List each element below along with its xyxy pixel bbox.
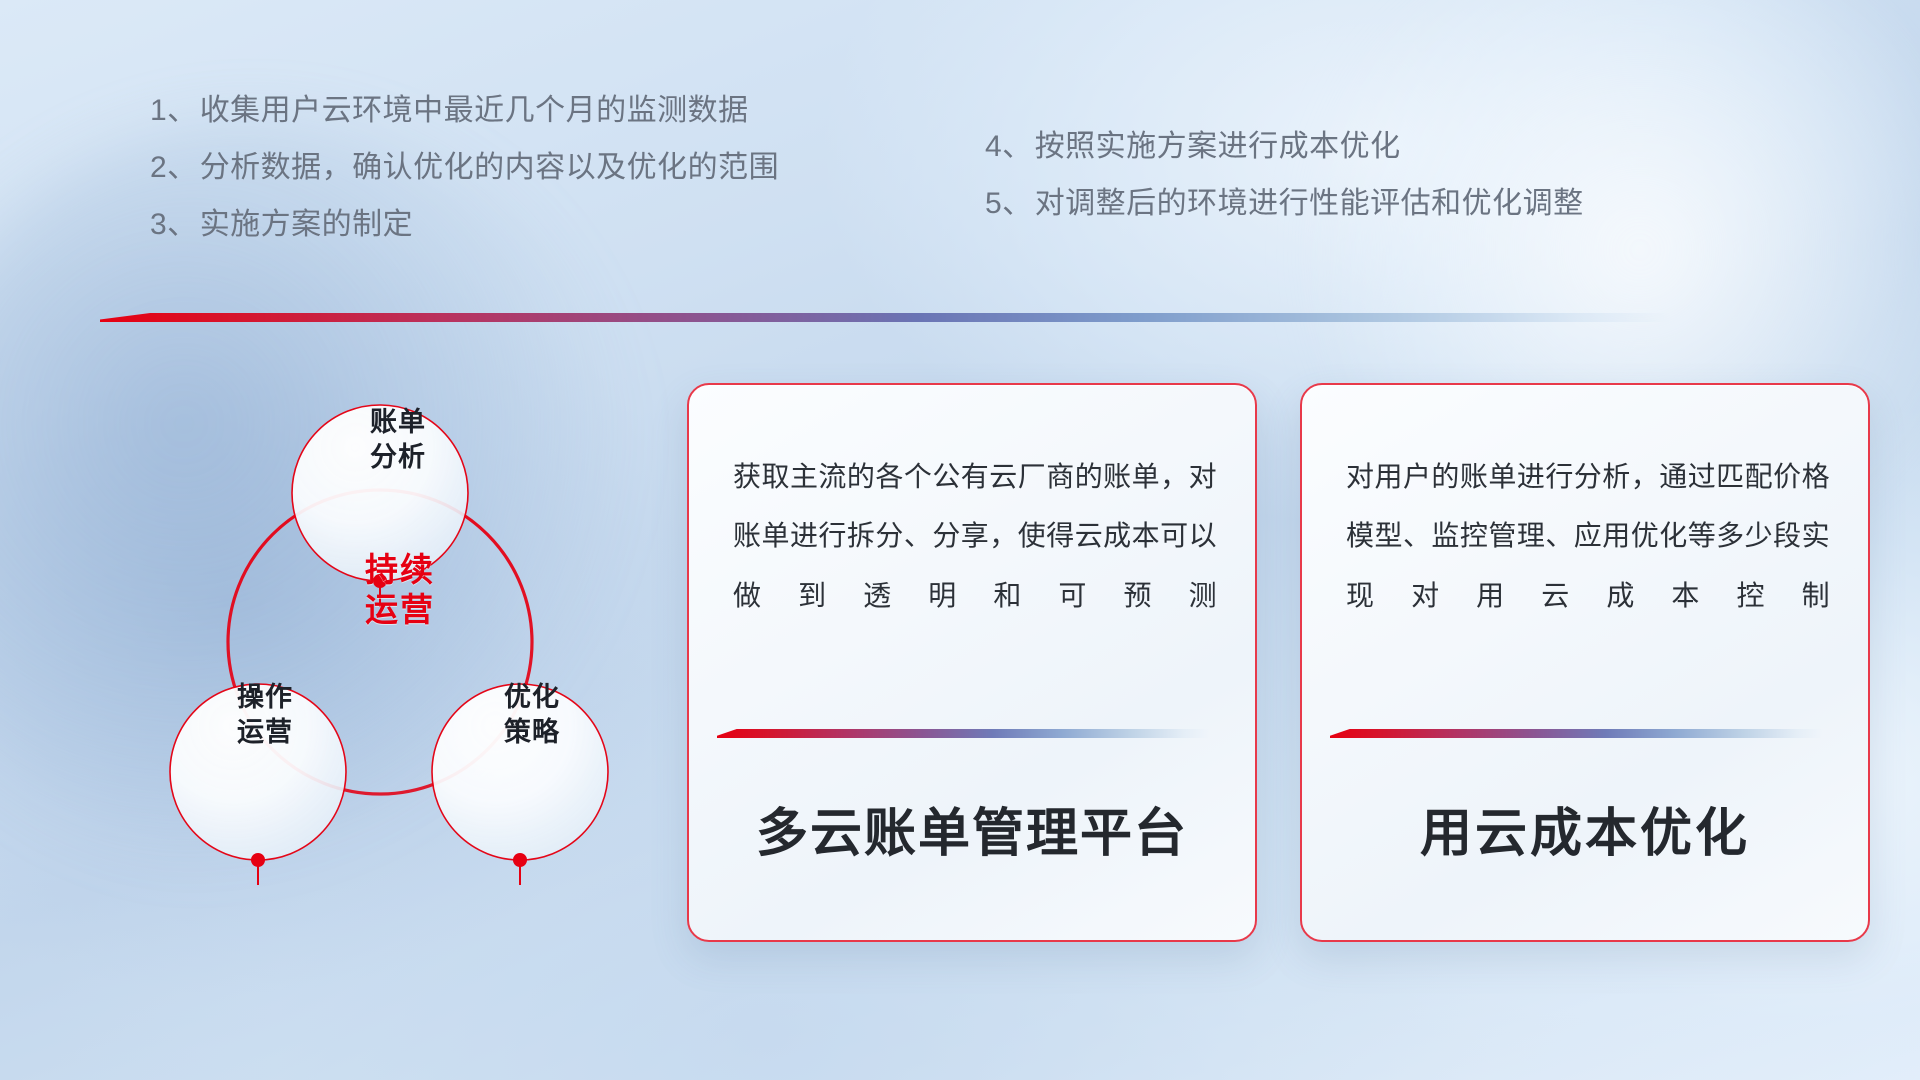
venn-dot-left — [251, 853, 265, 867]
card-accent-bar — [717, 729, 1209, 738]
list-item-index: 1、 — [150, 94, 198, 127]
process-steps-right-column: 4、按照实施方案进行成本优化 5、对调整后的环境进行性能评估和优化调整 — [985, 132, 1584, 246]
list-item: 3、实施方案的制定 — [150, 210, 779, 240]
card-body-text: 对用户的账单进行分析，通过匹配价格模型、监控管理、应用优化等多少段实现对用云成本… — [1346, 447, 1830, 625]
card-title: 多云账单管理平台 — [689, 791, 1255, 866]
list-item-index: 3、 — [150, 208, 198, 241]
list-item-index: 5、 — [985, 187, 1033, 220]
venn-bubble-left — [170, 684, 346, 860]
venn-bubble-right — [432, 684, 608, 860]
list-item-index: 2、 — [150, 151, 198, 184]
divider-bar — [100, 313, 1670, 322]
card-body: 获取主流的各个公有云厂商的账单，对账单进行拆分、分享，使得云成本可以做到透明和可… — [733, 447, 1217, 625]
process-steps: 1、收集用户云环境中最近几个月的监测数据 2、分析数据，确认优化的内容以及优化的… — [0, 96, 1920, 276]
slide-canvas: 1、收集用户云环境中最近几个月的监测数据 2、分析数据，确认优化的内容以及优化的… — [0, 0, 1920, 1080]
venn-svg — [100, 345, 660, 935]
process-steps-left-column: 1、收集用户云环境中最近几个月的监测数据 2、分析数据，确认优化的内容以及优化的… — [150, 96, 779, 267]
venn-dot-right — [513, 853, 527, 867]
card-body: 对用户的账单进行分析，通过匹配价格模型、监控管理、应用优化等多少段实现对用云成本… — [1346, 447, 1830, 625]
venn-dot-top — [373, 574, 387, 588]
list-item-index: 4、 — [985, 130, 1033, 163]
card-accent-bar — [1330, 729, 1822, 738]
list-item: 1、收集用户云环境中最近几个月的监测数据 — [150, 96, 779, 126]
feature-card[interactable]: 对用户的账单进行分析，通过匹配价格模型、监控管理、应用优化等多少段实现对用云成本… — [1300, 383, 1870, 942]
feature-card[interactable]: 获取主流的各个公有云厂商的账单，对账单进行拆分、分享，使得云成本可以做到透明和可… — [687, 383, 1257, 942]
list-item-label: 对调整后的环境进行性能评估和优化调整 — [1035, 187, 1584, 220]
venn-diagram: 账单 分析 持续 运营 操作 运营 优化 策略 — [100, 345, 660, 935]
list-item-label: 按照实施方案进行成本优化 — [1035, 130, 1401, 163]
list-item-label: 收集用户云环境中最近几个月的监测数据 — [200, 94, 749, 127]
card-body-text: 获取主流的各个公有云厂商的账单，对账单进行拆分、分享，使得云成本可以做到透明和可… — [733, 447, 1217, 625]
card-title: 用云成本优化 — [1302, 791, 1868, 866]
card-accent-line — [1330, 729, 1822, 738]
card-accent-line — [717, 729, 1209, 738]
list-item-label: 分析数据，确认优化的内容以及优化的范围 — [200, 151, 780, 184]
list-item: 5、对调整后的环境进行性能评估和优化调整 — [985, 189, 1584, 219]
list-item-label: 实施方案的制定 — [200, 208, 414, 241]
venn-bubble-top — [292, 405, 468, 581]
list-item: 4、按照实施方案进行成本优化 — [985, 132, 1584, 162]
section-divider — [100, 313, 1670, 322]
list-item: 2、分析数据，确认优化的内容以及优化的范围 — [150, 153, 779, 183]
